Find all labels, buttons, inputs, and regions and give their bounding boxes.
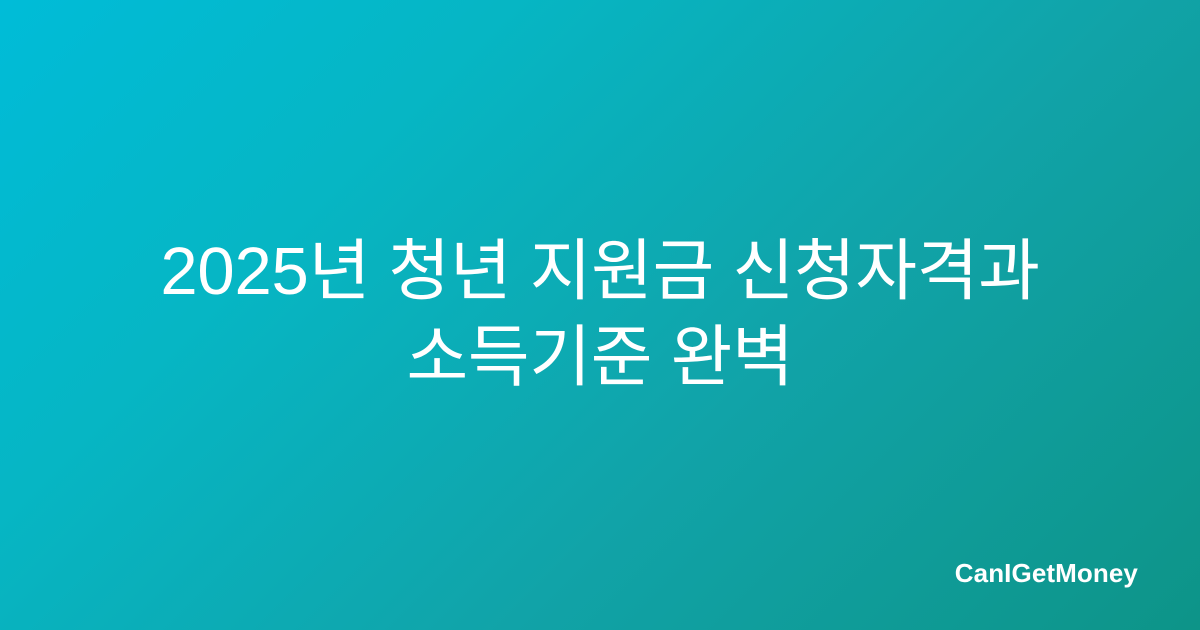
- brand-watermark: CanIGetMoney: [955, 558, 1138, 588]
- og-share-card: 2025년 청년 지원금 신청자격과 소득기준 완벽 CanIGetMoney: [0, 0, 1200, 630]
- page-title: 2025년 청년 지원금 신청자격과 소득기준 완벽: [88, 229, 1112, 401]
